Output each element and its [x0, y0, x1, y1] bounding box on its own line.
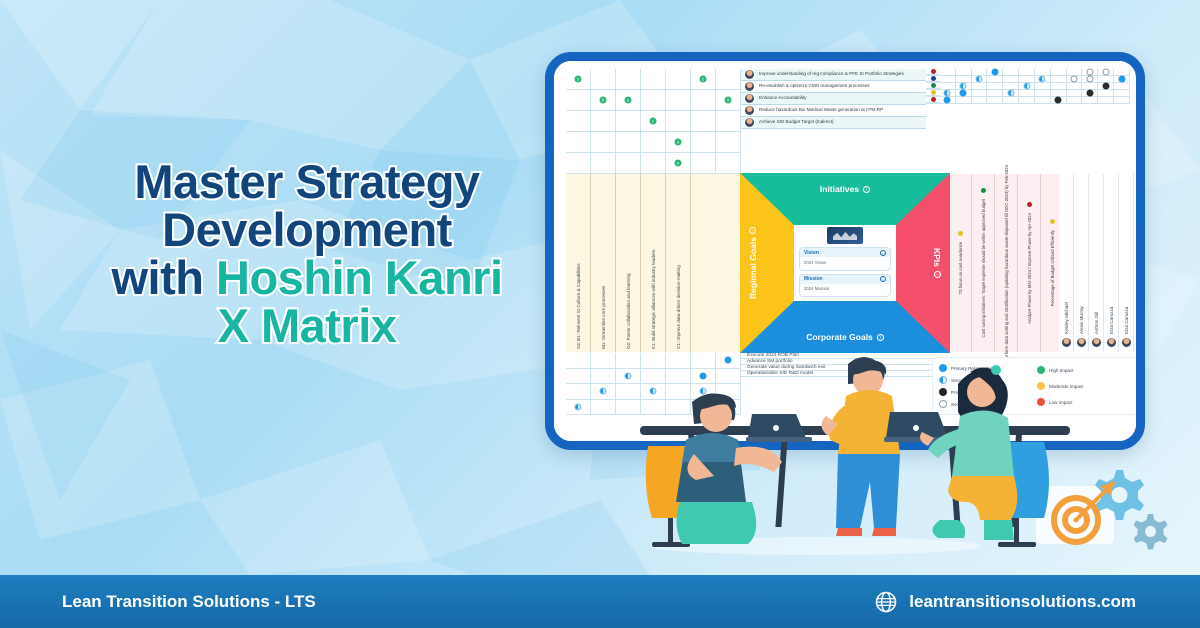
matrix-marker[interactable] [1086, 69, 1093, 76]
goal-row-label: Achieve SID Budget Target (Indirect) [759, 119, 833, 125]
matrix-cell[interactable] [1035, 97, 1051, 103]
mission-card-header: Mission i [800, 275, 890, 284]
matrix-marker[interactable] [1086, 76, 1093, 83]
matrix-cell[interactable]: 3 [616, 90, 641, 110]
matrix-cell[interactable] [566, 90, 591, 110]
matrix-cell[interactable] [591, 400, 616, 415]
vision-card[interactable]: Vision i 2024 Vision [799, 247, 891, 271]
company-banner-image [827, 227, 863, 244]
matrix-cell[interactable] [716, 69, 741, 89]
avatar [744, 81, 755, 92]
matrix-cell[interactable] [566, 153, 591, 173]
goal-row-label: Re-establish & optimize CMO management p… [759, 83, 870, 89]
globe-icon [875, 591, 897, 613]
matrix-marker[interactable] [1007, 90, 1014, 97]
avatar [1106, 337, 1117, 348]
matrix-cell[interactable] [591, 384, 616, 399]
matrix-marker[interactable]: 2 [700, 76, 707, 83]
matrix-marker[interactable] [1102, 69, 1109, 76]
matrix-marker[interactable] [600, 388, 607, 395]
matrix-marker[interactable] [991, 69, 998, 76]
info-icon[interactable]: i [863, 186, 870, 193]
matrix-cell[interactable] [956, 97, 972, 103]
table-row [926, 90, 1130, 97]
mission-card-text: 2024 Mission [800, 284, 890, 297]
impact-dot-cell [926, 83, 940, 89]
matrix-cell[interactable] [1082, 69, 1098, 75]
vision-mission-panel: Vision i 2024 Vision Mission i 2024 Miss… [794, 225, 896, 301]
impact-dot-cell [926, 69, 940, 75]
matrix-marker[interactable] [1055, 97, 1062, 104]
kpi-impact-dot [1050, 219, 1055, 224]
goal-row[interactable]: Re-establish & optimize CMO management p… [741, 81, 926, 93]
matrix-cell[interactable] [591, 111, 616, 131]
kpi-label: Percentage of Budget Utilized Efficientl… [1050, 226, 1055, 309]
matrix-cell[interactable] [566, 132, 591, 152]
matrix-cell[interactable] [1051, 69, 1067, 75]
matrix-cell[interactable] [716, 132, 741, 152]
matrix-cell[interactable] [987, 97, 1003, 103]
matrix-cell[interactable] [1067, 69, 1083, 75]
matrix-marker[interactable] [976, 76, 983, 83]
impact-dot [931, 90, 936, 95]
matrix-cell[interactable] [691, 153, 716, 173]
footer-bar: Lean Transition Solutions - LTS leantran… [0, 575, 1200, 628]
matrix-cell[interactable] [956, 69, 972, 75]
matrix-cell[interactable] [616, 369, 641, 384]
matrix-marker[interactable] [575, 403, 582, 410]
matrix-marker[interactable]: 5 [600, 97, 607, 104]
matrix-cell[interactable]: 5 [716, 90, 741, 110]
team-member-name: Keisley Michael [1064, 174, 1069, 337]
matrix-cell[interactable] [666, 90, 691, 110]
title-line-1: Master Strategy [72, 158, 542, 206]
goal-row-label: Improve understanding of reg compliance … [759, 71, 904, 77]
matrix-cell[interactable] [1035, 69, 1051, 75]
matrix-marker[interactable]: 1 [650, 118, 657, 125]
matrix-cell[interactable] [1003, 90, 1019, 96]
team-member-column[interactable]: Alexis Murray [1074, 174, 1089, 352]
matrix-cell[interactable] [987, 83, 1003, 89]
avatar [744, 105, 755, 116]
avatar [1076, 337, 1087, 348]
table-row [926, 69, 1130, 76]
table-row [926, 83, 1130, 90]
matrix-cell[interactable] [1114, 97, 1130, 103]
title-line-2: Development [72, 206, 542, 254]
matrix-cell[interactable] [1019, 83, 1035, 89]
matrix-cell[interactable] [1051, 90, 1067, 96]
vision-card-header: Vision i [800, 248, 890, 257]
matrix-cell[interactable] [566, 111, 591, 131]
matrix-cell[interactable] [987, 90, 1003, 96]
matrix-cell[interactable] [1003, 69, 1019, 75]
matrix-cell[interactable] [1067, 90, 1083, 96]
footer-company: Lean Transition Solutions - LTS [62, 592, 316, 612]
matrix-marker[interactable] [1102, 83, 1109, 90]
matrix-cell[interactable] [1114, 90, 1130, 96]
matrix-column-header[interactable]: M1: Streamline core processes [591, 174, 616, 352]
matrix-cell[interactable]: 2 [566, 69, 591, 89]
matrix-cell[interactable] [1082, 90, 1098, 96]
title-line-4: X Matrix [72, 302, 542, 350]
footer-website-group[interactable]: leantransitionsolutions.com [875, 591, 1136, 613]
matrix-cell[interactable] [566, 353, 591, 368]
impact-dot-cell [926, 97, 940, 103]
avatar [744, 69, 755, 80]
kpi-impact-dot [958, 231, 963, 236]
matrix-cell[interactable] [1035, 83, 1051, 89]
info-icon[interactable]: i [880, 250, 886, 256]
matrix-cell[interactable] [716, 153, 741, 173]
matrix-cell[interactable] [987, 69, 1003, 75]
initiatives-label: Initiatives i [740, 184, 950, 194]
team-member-column[interactable]: Elza Carozza [1104, 174, 1119, 352]
matrix-cell[interactable] [1003, 83, 1019, 89]
top-goal-grid: 22535139 Improve understanding of reg co… [566, 69, 1130, 174]
people-label-strip: Keisley MichaelAlexis MurrayAshton GillE… [1059, 174, 1134, 352]
table-row: 9 [566, 153, 741, 174]
matrix-cell[interactable] [1114, 83, 1130, 89]
table-row: 3 [566, 132, 741, 153]
matrix-cell[interactable] [1082, 97, 1098, 103]
matrix-cell[interactable] [956, 90, 972, 96]
matrix-cell[interactable] [940, 83, 956, 89]
matrix-cell[interactable] [940, 90, 956, 96]
matrix-cell[interactable] [591, 69, 616, 89]
vision-card-text: 2024 Vision [800, 257, 890, 270]
matrix-cell[interactable] [1098, 90, 1114, 96]
kpi-impact-dot [1027, 202, 1032, 207]
matrix-marker[interactable] [1039, 76, 1046, 83]
matrix-cell[interactable] [1003, 97, 1019, 103]
matrix-cell[interactable] [972, 97, 988, 103]
matrix-cell[interactable]: 9 [666, 153, 691, 173]
impact-dot [931, 69, 936, 74]
matrix-marker[interactable]: 5 [725, 97, 732, 104]
matrix-cell[interactable] [591, 353, 616, 368]
table-row: 535 [566, 90, 741, 111]
matrix-marker[interactable] [1086, 90, 1093, 97]
matrix-cell[interactable] [940, 69, 956, 75]
matrix-cell[interactable] [1019, 97, 1035, 103]
matrix-cell[interactable]: 5 [591, 90, 616, 110]
goal-grid-right-cells [926, 69, 1130, 174]
matrix-cell[interactable] [691, 132, 716, 152]
matrix-column-header[interactable]: S3: B1: Reinvent SI Culture & Capabiliti… [566, 174, 591, 352]
matrix-cell[interactable] [691, 111, 716, 131]
matrix-cell[interactable] [616, 353, 641, 368]
matrix-cell[interactable] [1019, 69, 1035, 75]
column-header-label: M1: Streamline core processes [601, 174, 606, 352]
team-member-name: Elza Carozza [1109, 174, 1114, 337]
matrix-marker[interactable] [625, 372, 632, 379]
avatar [744, 117, 755, 128]
page-title: Master Strategy Development with Hoshin … [72, 158, 542, 350]
matrix-cell[interactable] [972, 69, 988, 75]
matrix-cell[interactable] [1067, 97, 1083, 103]
matrix-cell[interactable] [940, 97, 956, 103]
matrix-cell[interactable] [591, 369, 616, 384]
team-member-column[interactable]: Elza Carozza [1119, 174, 1134, 352]
matrix-cell[interactable] [1114, 76, 1130, 82]
matrix-marker[interactable] [1118, 76, 1125, 83]
matrix-cell[interactable] [641, 132, 666, 152]
mission-card[interactable]: Mission i 2024 Mission [799, 274, 891, 298]
matrix-cell[interactable] [591, 153, 616, 173]
matrix-marker[interactable]: 3 [625, 97, 632, 104]
matrix-marker[interactable] [960, 83, 967, 90]
matrix-marker[interactable] [1071, 76, 1078, 83]
matrix-marker[interactable] [960, 90, 967, 97]
matrix-cell[interactable] [1051, 83, 1067, 89]
matrix-cell[interactable] [1019, 76, 1035, 82]
avatar [744, 93, 755, 104]
column-header-label: O2: Foster collaboration and learning [626, 174, 631, 352]
matrix-cell[interactable] [616, 132, 641, 152]
matrix-cell[interactable] [666, 69, 691, 89]
matrix-cell[interactable] [972, 83, 988, 89]
matrix-cell[interactable] [1098, 97, 1114, 103]
matrix-cell[interactable] [616, 384, 641, 399]
table-row: 22 [566, 69, 741, 90]
impact-dot [931, 83, 936, 88]
matrix-cell[interactable] [1067, 76, 1083, 82]
matrix-cell[interactable] [972, 76, 988, 82]
avatar [1091, 337, 1102, 348]
info-icon[interactable]: i [880, 276, 886, 282]
matrix-cell[interactable] [1098, 83, 1114, 89]
matrix-cell[interactable] [1114, 69, 1130, 75]
kpi-label: T0 focus on cost avoidance [958, 238, 963, 297]
team-member-name: Elza Carozza [1124, 174, 1129, 337]
matrix-column-header[interactable]: O2: Foster collaboration and learning [616, 174, 641, 352]
info-icon[interactable]: i [750, 227, 757, 234]
matrix-cell[interactable] [1051, 76, 1067, 82]
matrix-cell[interactable] [616, 400, 641, 415]
team-illustration [640, 318, 1070, 568]
matrix-cell[interactable] [1067, 83, 1083, 89]
goal-row[interactable]: Achieve SID Budget Target (Indirect) [741, 117, 926, 129]
matrix-cell[interactable]: 3 [666, 132, 691, 152]
kpi-label: Analyze Phase by Mar-2024 / Improve Phas… [1027, 209, 1032, 327]
matrix-cell[interactable] [616, 69, 641, 89]
impact-dot [931, 97, 936, 102]
matrix-cell[interactable] [1082, 83, 1098, 89]
matrix-cell[interactable] [1035, 76, 1051, 82]
goal-row[interactable]: Improve understanding of reg compliance … [741, 69, 926, 81]
team-member-column[interactable]: Ashton Gill [1089, 174, 1104, 352]
matrix-cell[interactable] [972, 90, 988, 96]
matrix-cell[interactable]: 1 [641, 111, 666, 131]
goal-row-label: Reduce hazardous Bio Medical Waste gener… [759, 107, 883, 113]
matrix-marker[interactable] [1023, 83, 1030, 90]
matrix-cell[interactable] [1098, 76, 1114, 82]
column-header-label: S3: B1: Reinvent SI Culture & Capabiliti… [576, 174, 581, 352]
goal-row-label: Enhance Accountability [759, 95, 807, 101]
matrix-cell[interactable] [1051, 97, 1067, 103]
table-row: 1 [566, 111, 741, 132]
matrix-cell[interactable] [716, 111, 741, 131]
matrix-cell[interactable] [566, 384, 591, 399]
matrix-marker[interactable] [944, 90, 951, 97]
matrix-cell[interactable] [641, 153, 666, 173]
matrix-cell[interactable] [956, 83, 972, 89]
matrix-marker[interactable]: 3 [675, 139, 682, 146]
avatar [1121, 337, 1132, 348]
matrix-cell[interactable] [616, 153, 641, 173]
matrix-cell[interactable] [566, 369, 591, 384]
impact-dot-cell [926, 76, 940, 82]
goal-grid-left-cells: 22535139 [566, 69, 741, 174]
matrix-cell[interactable] [566, 400, 591, 415]
goal-text-column: Improve understanding of reg compliance … [741, 69, 926, 174]
team-member-name: Alexis Murray [1079, 174, 1084, 337]
matrix-cell[interactable] [956, 76, 972, 82]
goal-row[interactable]: Enhance Accountability [741, 93, 926, 105]
matrix-cell[interactable] [987, 76, 1003, 82]
matrix-cell[interactable] [641, 69, 666, 89]
matrix-cell[interactable] [591, 132, 616, 152]
matrix-marker[interactable] [944, 97, 951, 104]
matrix-marker[interactable]: 2 [575, 76, 582, 83]
team-member-name: Ashton Gill [1094, 174, 1099, 337]
matrix-cell[interactable] [1082, 76, 1098, 82]
info-icon[interactable]: i [934, 271, 941, 278]
matrix-cell[interactable] [1035, 90, 1051, 96]
matrix-cell[interactable] [691, 90, 716, 110]
gear-icon [1134, 514, 1168, 550]
matrix-cell[interactable] [1098, 69, 1114, 75]
impact-dot-cell [926, 90, 940, 96]
matrix-cell[interactable] [666, 111, 691, 131]
footer-website: leantransitionsolutions.com [909, 592, 1136, 612]
matrix-cell[interactable]: 2 [691, 69, 716, 89]
kpi-impact-dot [981, 188, 986, 193]
table-row [926, 97, 1130, 104]
matrix-cell[interactable] [641, 90, 666, 110]
title-line-3: with Hoshin Kanri [72, 254, 542, 302]
matrix-cell[interactable] [616, 111, 641, 131]
matrix-cell[interactable] [1003, 76, 1019, 82]
impact-dot [931, 76, 936, 81]
goal-row[interactable]: Reduce hazardous Bio Medical Waste gener… [741, 105, 926, 117]
matrix-cell[interactable] [940, 76, 956, 82]
matrix-marker[interactable]: 9 [675, 160, 682, 167]
matrix-cell[interactable] [1019, 90, 1035, 96]
